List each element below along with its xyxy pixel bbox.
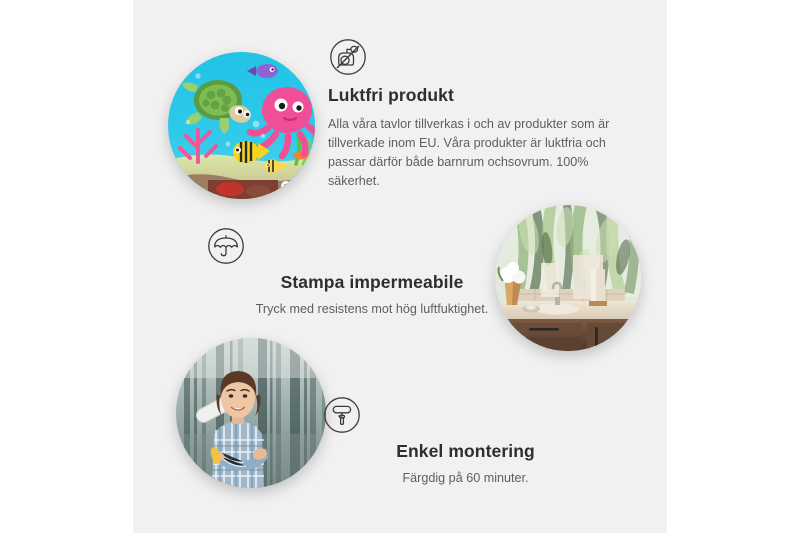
paint-roller-icon [323, 396, 608, 434]
no-fragrance-spray-icon [329, 38, 628, 76]
feature-odourless: Luktfri produkt Alla våra tavlor tillver… [328, 38, 628, 191]
content-panel: Luktfri produkt Alla våra tavlor tillver… [133, 0, 667, 533]
feature-description: Tryck med resistens mot hög luftfuktighe… [207, 300, 537, 319]
feature-title: Enkel montering [323, 440, 608, 464]
promo-graphic: Luktfri produkt Alla våra tavlor tillver… [0, 0, 800, 533]
underwater-cartoon-mural-photo [168, 52, 315, 199]
feature-description: Färgdig på 60 minuter. [323, 469, 608, 488]
woman-with-paint-roller-photo [176, 338, 326, 488]
feature-title: Stampa impermeabile [207, 271, 537, 295]
feature-title: Luktfri produkt [328, 84, 628, 108]
feature-mounting: Enkel montering Färgdig på 60 minuter. [323, 396, 608, 488]
umbrella-icon [207, 227, 537, 265]
feature-description: Alla våra tavlor tillverkas i och av pro… [328, 115, 625, 192]
feature-waterproof: Stampa impermeabile Tryck med resistens … [207, 227, 537, 319]
